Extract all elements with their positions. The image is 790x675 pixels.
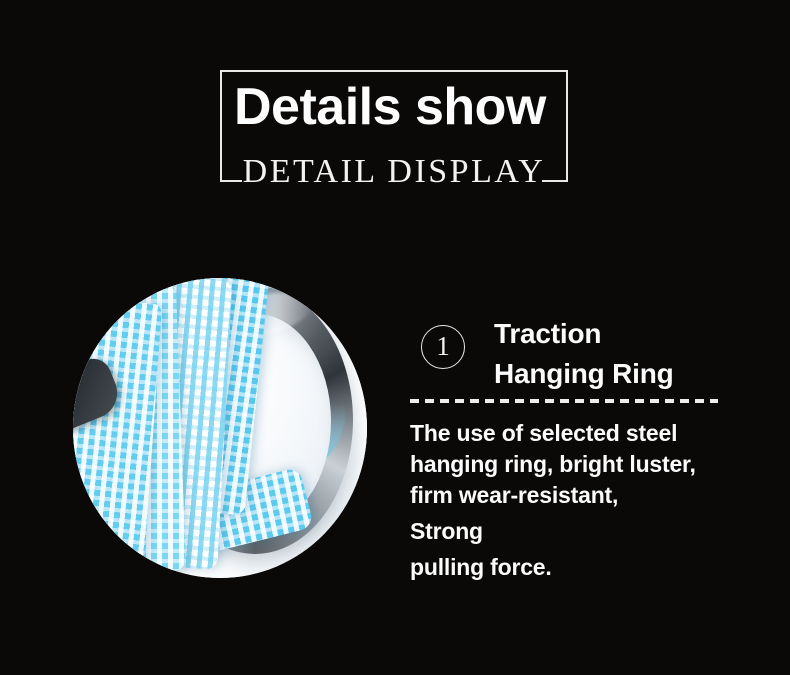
feature-heading-line-2: Hanging Ring (494, 358, 674, 389)
page-subtitle: DETAIL DISPLAY (220, 152, 568, 192)
body-line-3: firm wear-resistant, (410, 480, 755, 511)
body-line-4: Strong (410, 516, 755, 547)
body-line-1: The use of selected steel (410, 418, 755, 449)
feature-description: 1 Traction Hanging Ring The use of selec… (410, 316, 750, 394)
photo-backdrop (73, 278, 367, 578)
product-photo (73, 278, 367, 578)
feature-header: 1 Traction Hanging Ring (410, 316, 750, 394)
title-frame: Details show DETAIL DISPLAY (220, 70, 568, 182)
dashed-divider (410, 399, 718, 403)
detail-display-panel: Details show DETAIL DISPLAY 1 Traction H… (0, 0, 790, 675)
feature-heading-line-1: Traction (494, 318, 601, 349)
step-number-badge: 1 (421, 325, 465, 369)
feature-heading: Traction Hanging Ring (494, 314, 750, 394)
feature-body-text: The use of selected steel hanging ring, … (410, 418, 755, 583)
body-line-2: hanging ring, bright luster, (410, 449, 755, 480)
page-title: Details show (234, 78, 568, 136)
body-line-5: pulling force. (410, 552, 755, 583)
frame-top-border (220, 70, 568, 72)
